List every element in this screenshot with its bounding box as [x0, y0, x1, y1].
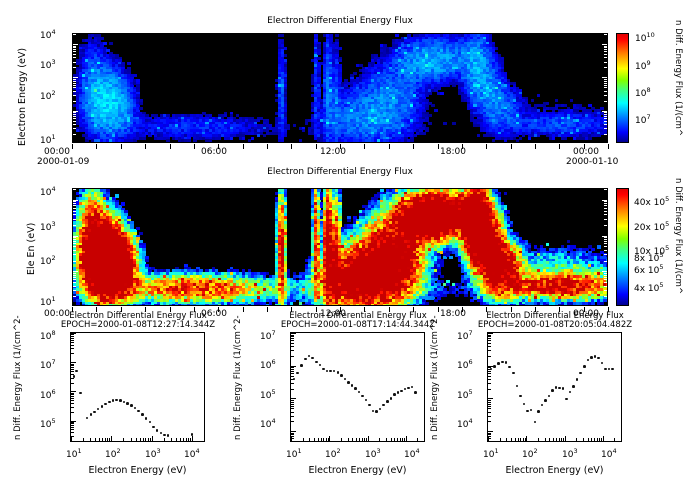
panel-top-ytick-1: 101	[40, 133, 56, 146]
p1-ytick-7: 107	[40, 358, 56, 371]
mid-colorbar-tick-40: 40x 105	[634, 195, 669, 208]
p3-xtick-1: 101	[483, 447, 499, 460]
p3-xtick-2: 102	[522, 447, 538, 460]
p1-xtick-1: 101	[66, 447, 82, 460]
mid-colorbar-tick-4: 4x 105	[634, 281, 664, 294]
panel-bottom-2-ylabel: n Diff. Energy Flux (1/(cm^2-	[233, 315, 243, 440]
panel-top-xdate-right: 2000-01-10	[566, 157, 618, 167]
p1-xtick-2: 102	[105, 447, 121, 460]
panel-top-xtick-0: 00:00	[44, 147, 70, 157]
panel-bottom-1-xlabel: Electron Energy (eV)	[70, 465, 205, 476]
top-colorbar[interactable]	[616, 33, 629, 143]
panel-top-ylabel: Electron Energy (eV)	[17, 48, 28, 146]
panel-bottom-1-subtitle: EPOCH=2000-01-08T12:27:14.344Z	[38, 320, 238, 330]
spectrum-1-plot-area[interactable]	[70, 332, 205, 442]
panel-top-ytick-4: 104	[40, 28, 56, 41]
p1-ytick-8: 108	[40, 329, 56, 342]
p2-xtick-2: 102	[325, 447, 341, 460]
panel-top-title: Electron Differential Energy Flux	[72, 16, 608, 26]
panel-top-xdate-left: 2000-01-09	[37, 157, 89, 167]
panel-top-ytick-3: 103	[40, 58, 56, 71]
panel-mid-ytick-3: 103	[40, 220, 56, 233]
p3-ytick-6: 106	[457, 358, 473, 371]
mid-colorbar-tick-6: 6x 105	[634, 263, 664, 276]
p2-ytick-5: 105	[260, 388, 276, 401]
panel-mid-ytick-1: 101	[40, 295, 56, 308]
top-colorbar-tick-8: 108	[635, 86, 651, 99]
panel-bottom-3-xlabel: Electron Energy (eV)	[487, 465, 622, 476]
p3-ytick-5: 105	[457, 388, 473, 401]
top-colorbar-tick-10: 1010	[635, 31, 655, 44]
panel-bottom-2-xlabel: Electron Energy (eV)	[290, 465, 425, 476]
panel-mid-title: Electron Differential Energy Flux	[72, 167, 608, 177]
p3-ytick-4: 104	[457, 417, 473, 430]
spectrogram-x-axis-ticks	[72, 307, 608, 312]
p1-xtick-4: 104	[184, 447, 200, 460]
p2-xtick-4: 104	[404, 447, 420, 460]
p2-ytick-4: 104	[260, 417, 276, 430]
top-colorbar-tick-7: 107	[635, 113, 651, 126]
p3-ytick-7: 107	[457, 329, 473, 342]
spectrum-3-plot-area[interactable]	[487, 332, 622, 442]
panel-bottom-3-ylabel: n Diff. Energy Flux (1/(cm^2-	[430, 315, 440, 440]
top-colorbar-label: n Diff. Energy Flux (1/(cm^	[673, 20, 683, 136]
p1-ytick-6: 106	[40, 388, 56, 401]
p1-xtick-3: 103	[145, 447, 161, 460]
top-colorbar-tick-9: 109	[635, 59, 651, 72]
spectrum-2-plot-area[interactable]	[290, 332, 425, 442]
p3-xtick-3: 103	[562, 447, 578, 460]
mid-colorbar-label: n Diff. Energy Flux (1/(cm^	[673, 178, 683, 294]
p2-xtick-3: 103	[365, 447, 381, 460]
mid-colorbar-tick-20: 20x 105	[634, 220, 669, 233]
p2-ytick-6: 106	[260, 358, 276, 371]
panel-bottom-3-subtitle: EPOCH=2000-01-08T20:05:04.482Z	[455, 320, 655, 330]
spectrogram-x-axis-ticks	[72, 144, 608, 149]
top-spectrogram-plot-area[interactable]	[72, 33, 608, 143]
panel-mid-ytick-4: 104	[40, 185, 56, 198]
p1-ytick-5: 105	[40, 417, 56, 430]
panel-bottom-2-subtitle: EPOCH=2000-01-08T17:14:44.344Z	[258, 320, 458, 330]
panel-mid-ylabel: Ele En (eV)	[26, 223, 37, 275]
p3-xtick-4: 104	[601, 447, 617, 460]
mid-spectrogram-plot-area[interactable]	[72, 188, 608, 306]
panel-mid-ytick-2: 102	[40, 254, 56, 267]
p2-ytick-7: 107	[260, 329, 276, 342]
panel-bottom-1-ylabel: n Diff. Energy Flux (1/(cm^2-	[13, 315, 23, 440]
p2-xtick-1: 101	[286, 447, 302, 460]
mid-colorbar[interactable]	[616, 188, 629, 306]
panel-top-ytick-2: 102	[40, 89, 56, 102]
